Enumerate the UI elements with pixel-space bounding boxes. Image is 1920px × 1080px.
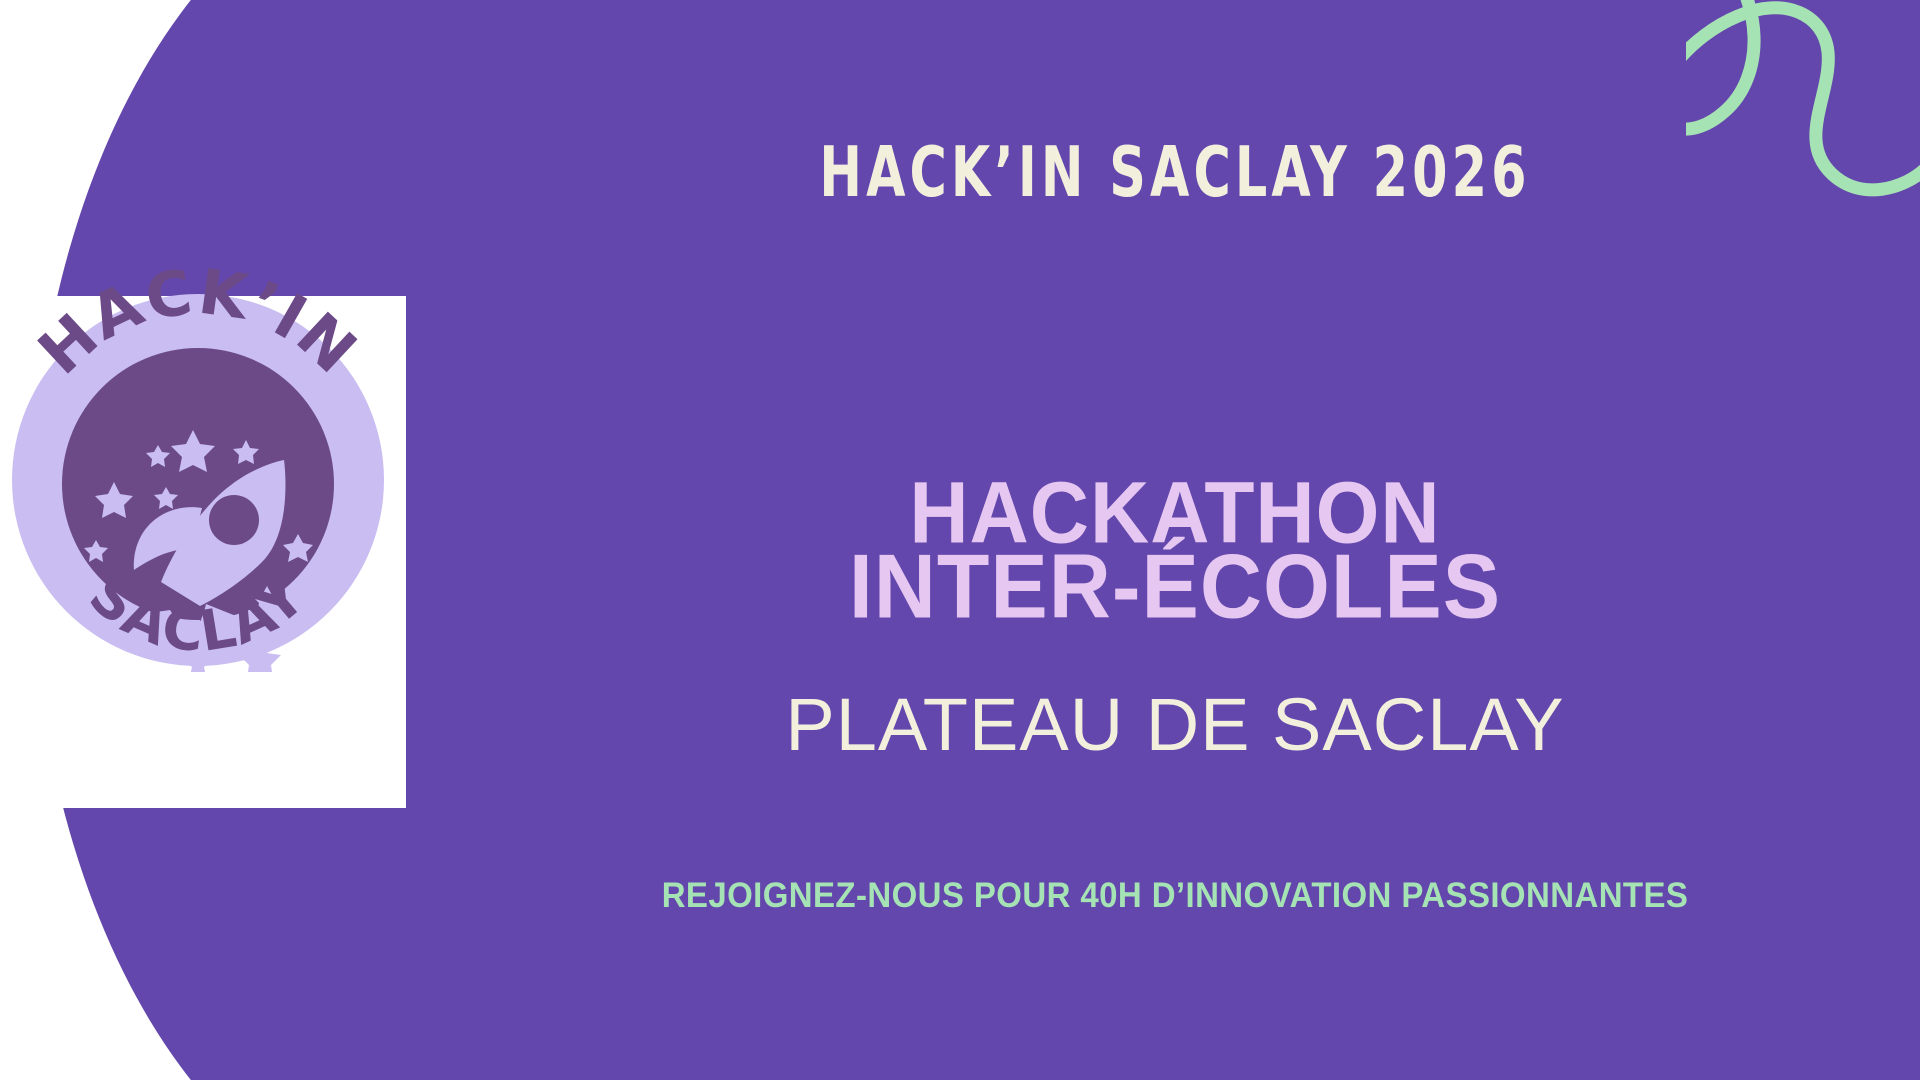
headline-line-2: INTER-ÉCOLES — [430, 548, 1920, 628]
subheadline-location: PLATEAU DE SACLAY — [430, 688, 1920, 762]
tagline: REJOIGNEZ-NOUS POUR 40H D’INNOVATION PAS… — [430, 877, 1920, 913]
headline-block: HACKATHON INTER-ÉCOLES — [430, 478, 1920, 626]
event-title: HACK’IN SACLAY 2026 — [564, 138, 1786, 207]
hackin-saclay-logo: HACK’IN SACLAY — [0, 252, 408, 672]
poster-text-content: HACK’IN SACLAY 2026 HACKATHON INTER-ÉCOL… — [430, 0, 1920, 1080]
poster-canvas: HACK’IN SACLAY HACK’IN SACLAY 2026 HACKA… — [0, 0, 1920, 1080]
